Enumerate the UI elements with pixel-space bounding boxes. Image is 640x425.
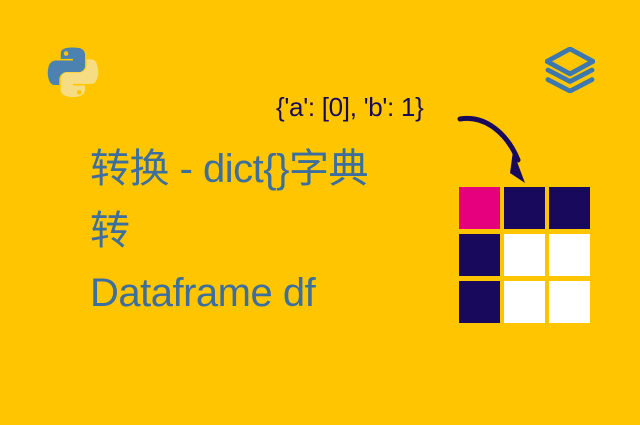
page-title-line-3: Dataframe df — [90, 262, 440, 324]
grid-cell-r0c1 — [504, 187, 545, 229]
grid-cell-r0c0 — [459, 187, 500, 229]
page-title-line-2: 转 — [90, 200, 440, 262]
grid-cell-r2c0 — [459, 281, 500, 323]
grid-cell-r1c0 — [459, 234, 500, 276]
python-logo-icon — [47, 45, 99, 97]
dict-literal-annotation: {'a': [0], 'b': 1} — [276, 92, 423, 122]
page-title: 转换 - dict{}字典 转 Dataframe df — [90, 138, 440, 324]
grid-cell-r0c2 — [549, 187, 590, 229]
layers-stack-icon — [545, 47, 595, 93]
slide-canvas: {'a': [0], 'b': 1} 转换 - dict{}字典 转 Dataf… — [0, 0, 640, 425]
grid-cell-r2c1 — [504, 281, 545, 323]
dataframe-grid — [459, 187, 590, 323]
page-title-line-1: 转换 - dict{}字典 — [90, 138, 440, 200]
grid-cell-r2c2 — [549, 281, 590, 323]
grid-cell-r1c2 — [549, 234, 590, 276]
grid-cell-r1c1 — [504, 234, 545, 276]
curved-arrow-icon — [455, 103, 545, 193]
